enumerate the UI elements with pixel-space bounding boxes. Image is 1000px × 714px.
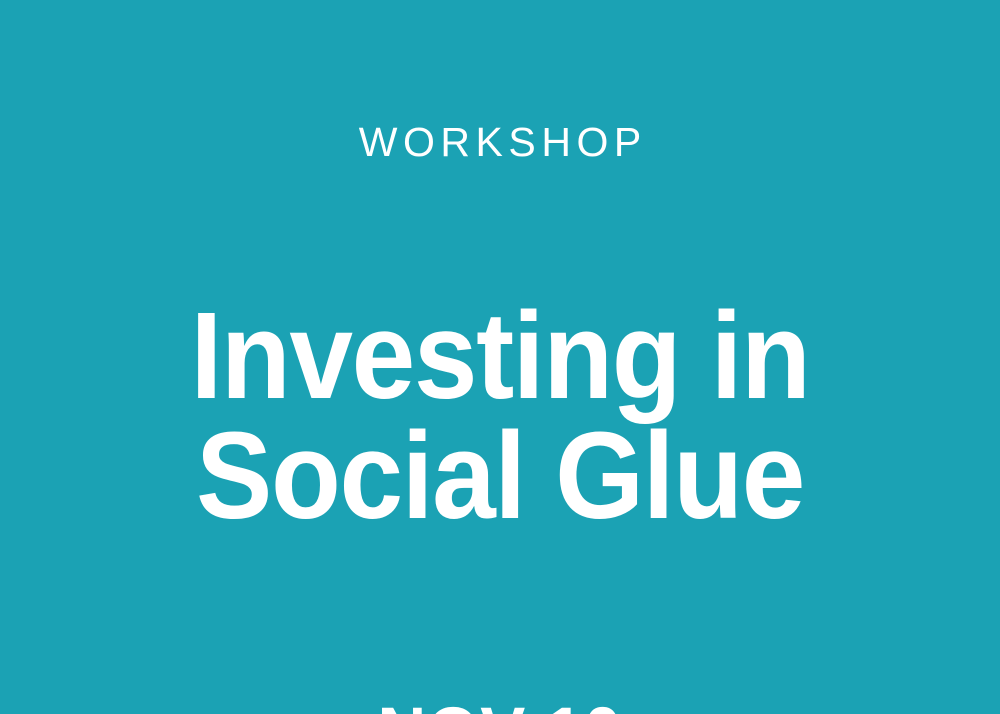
event-date-label: NOV 10 [378, 698, 623, 714]
page-title: Investing inSocial Glue [35, 297, 965, 536]
event-promo-card: WORKSHOP Investing inSocial Glue NOV 10 [0, 0, 1000, 714]
headline-line-1: Investing in [35, 297, 965, 416]
headline-line-2: Social Glue [35, 417, 965, 536]
date-row: NOV 10 [0, 698, 1000, 714]
event-type-label: WORKSHOP [353, 122, 647, 163]
eyebrow-row: WORKSHOP [0, 122, 1000, 163]
headline-row: Investing inSocial Glue [0, 215, 1000, 618]
